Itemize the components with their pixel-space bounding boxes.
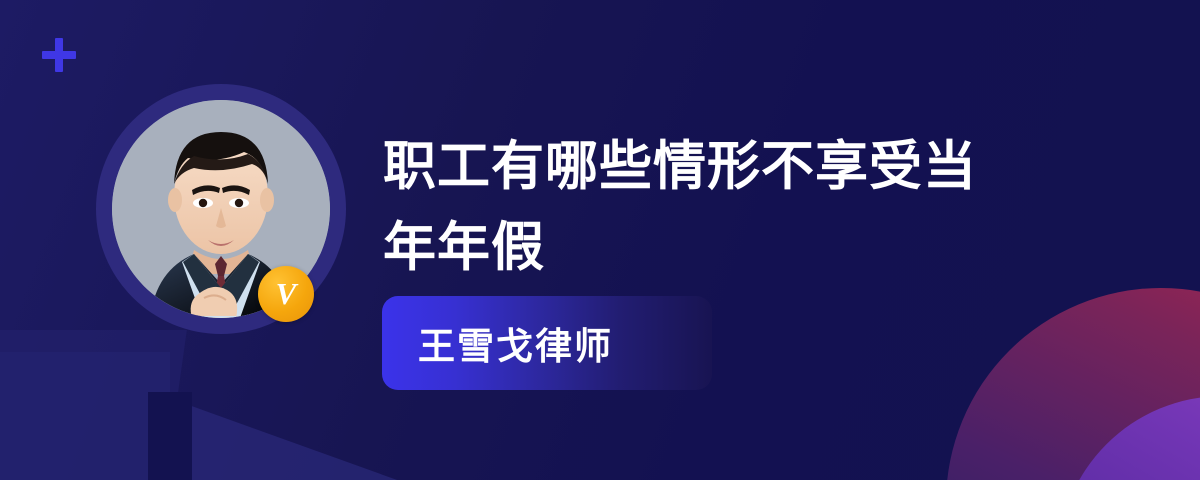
verified-badge-letter: V [276, 278, 297, 309]
avatar: V [96, 84, 346, 334]
content-area: 职工有哪些情形不享受当 年年假 [383, 126, 1083, 288]
plus-icon [42, 38, 76, 72]
background-triangle-shape [186, 404, 436, 480]
lawyer-name-button[interactable]: 王雪戈律师 [382, 296, 712, 390]
background-notch-shape [148, 392, 192, 480]
verified-badge-icon: V [258, 266, 314, 322]
page-title: 职工有哪些情形不享受当 年年假 [383, 126, 1083, 288]
legal-qa-banner: V 职工有哪些情形不享受当 年年假 王雪戈律师 [0, 0, 1200, 480]
